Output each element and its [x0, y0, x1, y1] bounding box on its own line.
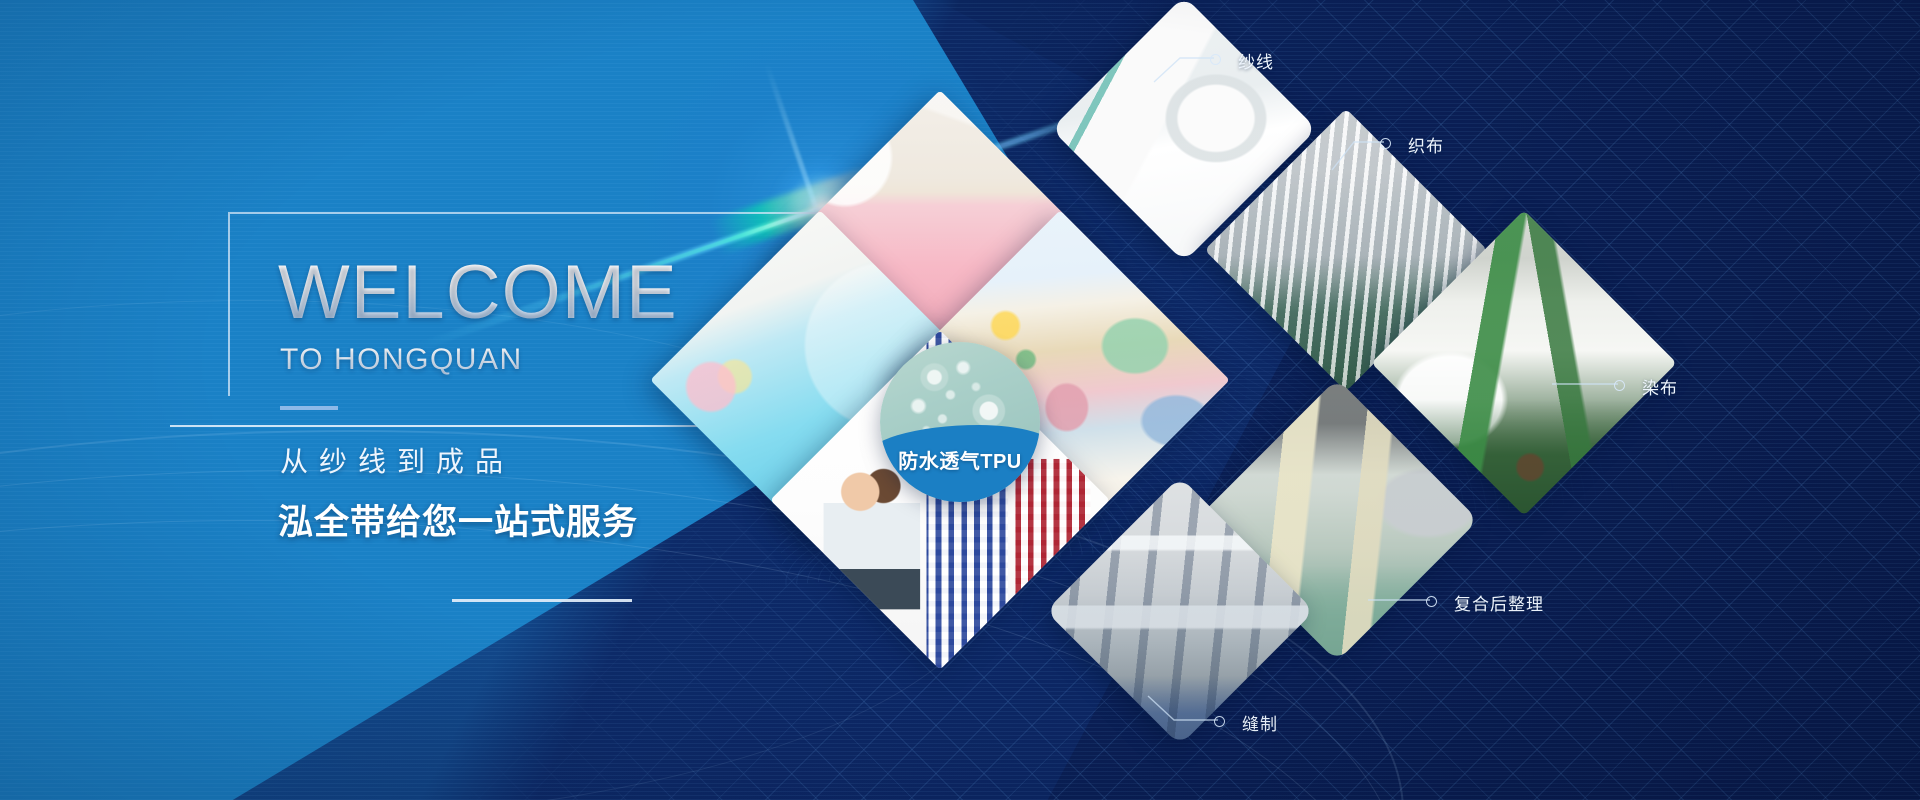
page-title: WELCOME: [278, 255, 678, 331]
callout-leader-line-yarn: [1214, 56, 1334, 96]
callout-label-yarn: 纱线: [1238, 48, 1274, 73]
callout-label-sewing: 缝制: [1242, 710, 1278, 735]
page-subtitle: TO HONGQUAN: [280, 345, 523, 375]
tpu-feature-badge[interactable]: 防水透气TPU: [880, 342, 1040, 502]
callout-leader-line-dyeing: [1618, 382, 1738, 402]
callout-label-dyeing: 染布: [1642, 374, 1678, 399]
callout-label-laminating: 复合后整理: [1454, 590, 1544, 615]
tagline-primary: 从纱线到成品: [280, 440, 514, 480]
badge-label: 防水透气TPU: [880, 445, 1040, 474]
horizontal-rule-lower: [452, 599, 632, 602]
callout-dot-yarn: [1210, 54, 1221, 65]
callout-dot-sewing: [1214, 716, 1225, 727]
callout-leader-line-sewing: [1218, 718, 1338, 758]
tagline-secondary: 泓全带给您一站式服务: [278, 494, 638, 545]
callout-dot-weaving: [1380, 138, 1391, 149]
accent-divider: [280, 406, 338, 410]
callout-dot-laminating: [1426, 596, 1437, 607]
hero-banner: WELCOME TO HONGQUAN 从纱线到成品 泓全带给您一站式服务 防水…: [0, 0, 1920, 800]
callout-label-weaving: 织布: [1408, 132, 1444, 157]
callout-dot-dyeing: [1614, 380, 1625, 391]
callout-leader-line-weaving: [1384, 140, 1504, 180]
